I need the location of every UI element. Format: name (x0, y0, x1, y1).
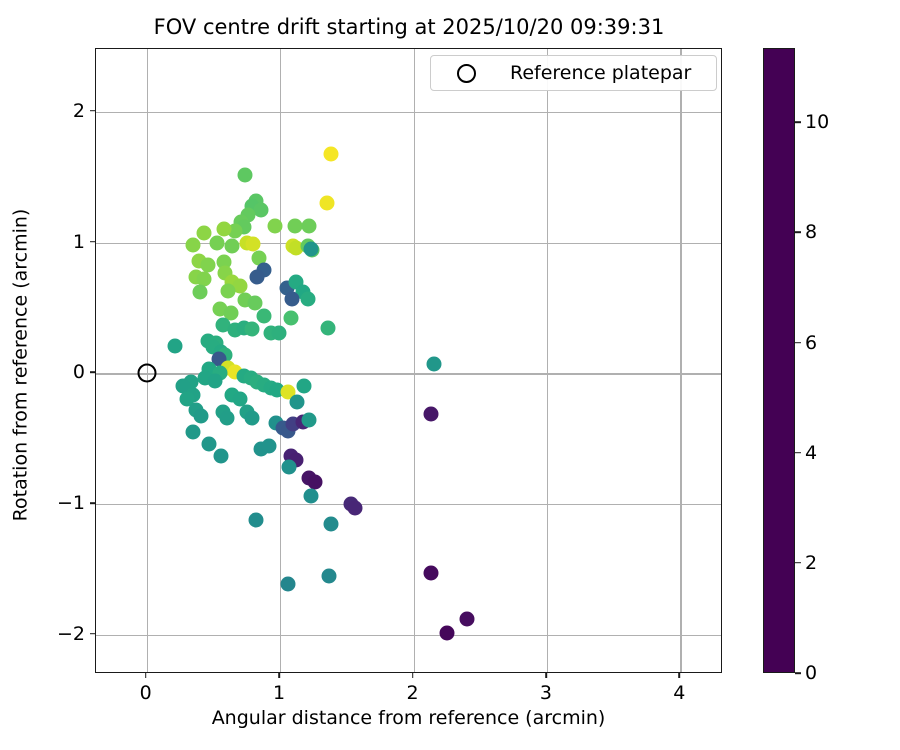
gridline-vertical (680, 49, 681, 672)
scatter-point (423, 566, 438, 581)
scatter-point (285, 291, 300, 306)
colorbar-gradient (764, 49, 794, 672)
scatter-point (323, 146, 338, 161)
colorbar-tick (795, 232, 801, 234)
scatter-point (302, 413, 317, 428)
scatter-point (249, 512, 264, 527)
x-axis-tick-label: 1 (273, 682, 285, 704)
scatter-point (186, 425, 201, 440)
gridline-horizontal (96, 112, 721, 113)
scatter-point (193, 285, 208, 300)
scatter-point (281, 576, 296, 591)
scatter-point (262, 439, 277, 454)
legend-marker-open-circle-icon (457, 64, 476, 83)
colorbar-tick (795, 122, 801, 124)
scatter-point (297, 379, 312, 394)
scatter-point (202, 436, 217, 451)
scatter-point (321, 320, 336, 335)
scatter-point (246, 236, 261, 251)
colorbar-tick-label: 6 (805, 332, 817, 354)
colorbar-tick-label: 10 (805, 111, 829, 133)
scatter-point (245, 321, 260, 336)
gridline-horizontal (96, 504, 721, 505)
x-axis-tick (679, 673, 681, 678)
reference-platepar-marker (137, 364, 156, 383)
colorbar-tick (795, 342, 801, 344)
gridline-vertical (414, 49, 415, 672)
scatter-point (207, 374, 222, 389)
scatter-point (210, 235, 225, 250)
x-axis-tick (412, 673, 414, 678)
x-axis-label: Angular distance from reference (arcmin) (95, 707, 722, 729)
scatter-point (219, 410, 234, 425)
scatter-point (287, 218, 302, 233)
colorbar-tick-label: 4 (805, 442, 817, 464)
colorbar-tick (795, 562, 801, 564)
gridline-vertical (547, 49, 548, 672)
scatter-point (250, 269, 265, 284)
scatter-point (245, 410, 260, 425)
x-axis-tick-label: 3 (540, 682, 552, 704)
scatter-point (283, 311, 298, 326)
chart-figure: FOV centre drift starting at 2025/10/20 … (0, 0, 900, 750)
scatter-point (423, 406, 438, 421)
y-axis-tick (90, 502, 95, 504)
scatter-point (257, 308, 272, 323)
scatter-point (186, 238, 201, 253)
scatter-point (214, 448, 229, 463)
scatter-point (271, 325, 286, 340)
scatter-point (426, 357, 441, 372)
scatter-point (303, 489, 318, 504)
scatter-point (167, 338, 182, 353)
scatter-point (254, 202, 269, 217)
y-axis-tick (90, 110, 95, 112)
colorbar-tick (795, 672, 801, 674)
gridline-horizontal (96, 635, 721, 636)
x-axis-tick-label: 0 (140, 682, 152, 704)
scatter-point (439, 626, 454, 641)
gridline-vertical (147, 49, 148, 672)
scatter-point (197, 226, 212, 241)
legend: Reference platepar (430, 55, 717, 91)
y-axis-label: Rotation from reference (arcmin) (10, 53, 32, 678)
scatter-point (282, 460, 297, 475)
scatter-point (303, 242, 318, 257)
plot-area (95, 48, 722, 673)
x-axis-tick-label: 2 (406, 682, 418, 704)
scatter-point (290, 395, 305, 410)
scatter-point (238, 167, 253, 182)
colorbar-tick-label: 2 (805, 552, 817, 574)
scatter-point (201, 257, 216, 272)
scatter-point (307, 474, 322, 489)
scatter-point (267, 218, 282, 233)
x-axis-tick (145, 673, 147, 678)
scatter-point (459, 612, 474, 627)
legend-label: Reference platepar (510, 62, 691, 84)
page-title: FOV centre drift starting at 2025/10/20 … (95, 14, 723, 40)
y-axis-tick (90, 371, 95, 373)
colorbar (763, 48, 795, 673)
colorbar-tick (795, 452, 801, 454)
x-axis-tick-label: 4 (673, 682, 685, 704)
scatter-point (221, 283, 236, 298)
scatter-point (225, 239, 240, 254)
x-axis-tick (278, 673, 280, 678)
scatter-point (301, 291, 316, 306)
y-axis-tick (90, 241, 95, 243)
scatter-point (302, 218, 317, 233)
scatter-point (319, 196, 334, 211)
colorbar-tick-label: 0 (805, 662, 817, 684)
scatter-point (347, 500, 362, 515)
colorbar-tick-label: 8 (805, 221, 817, 243)
scatter-point (323, 516, 338, 531)
y-axis-tick (90, 633, 95, 635)
x-axis-tick (545, 673, 547, 678)
scatter-point (194, 409, 209, 424)
scatter-point (322, 568, 337, 583)
